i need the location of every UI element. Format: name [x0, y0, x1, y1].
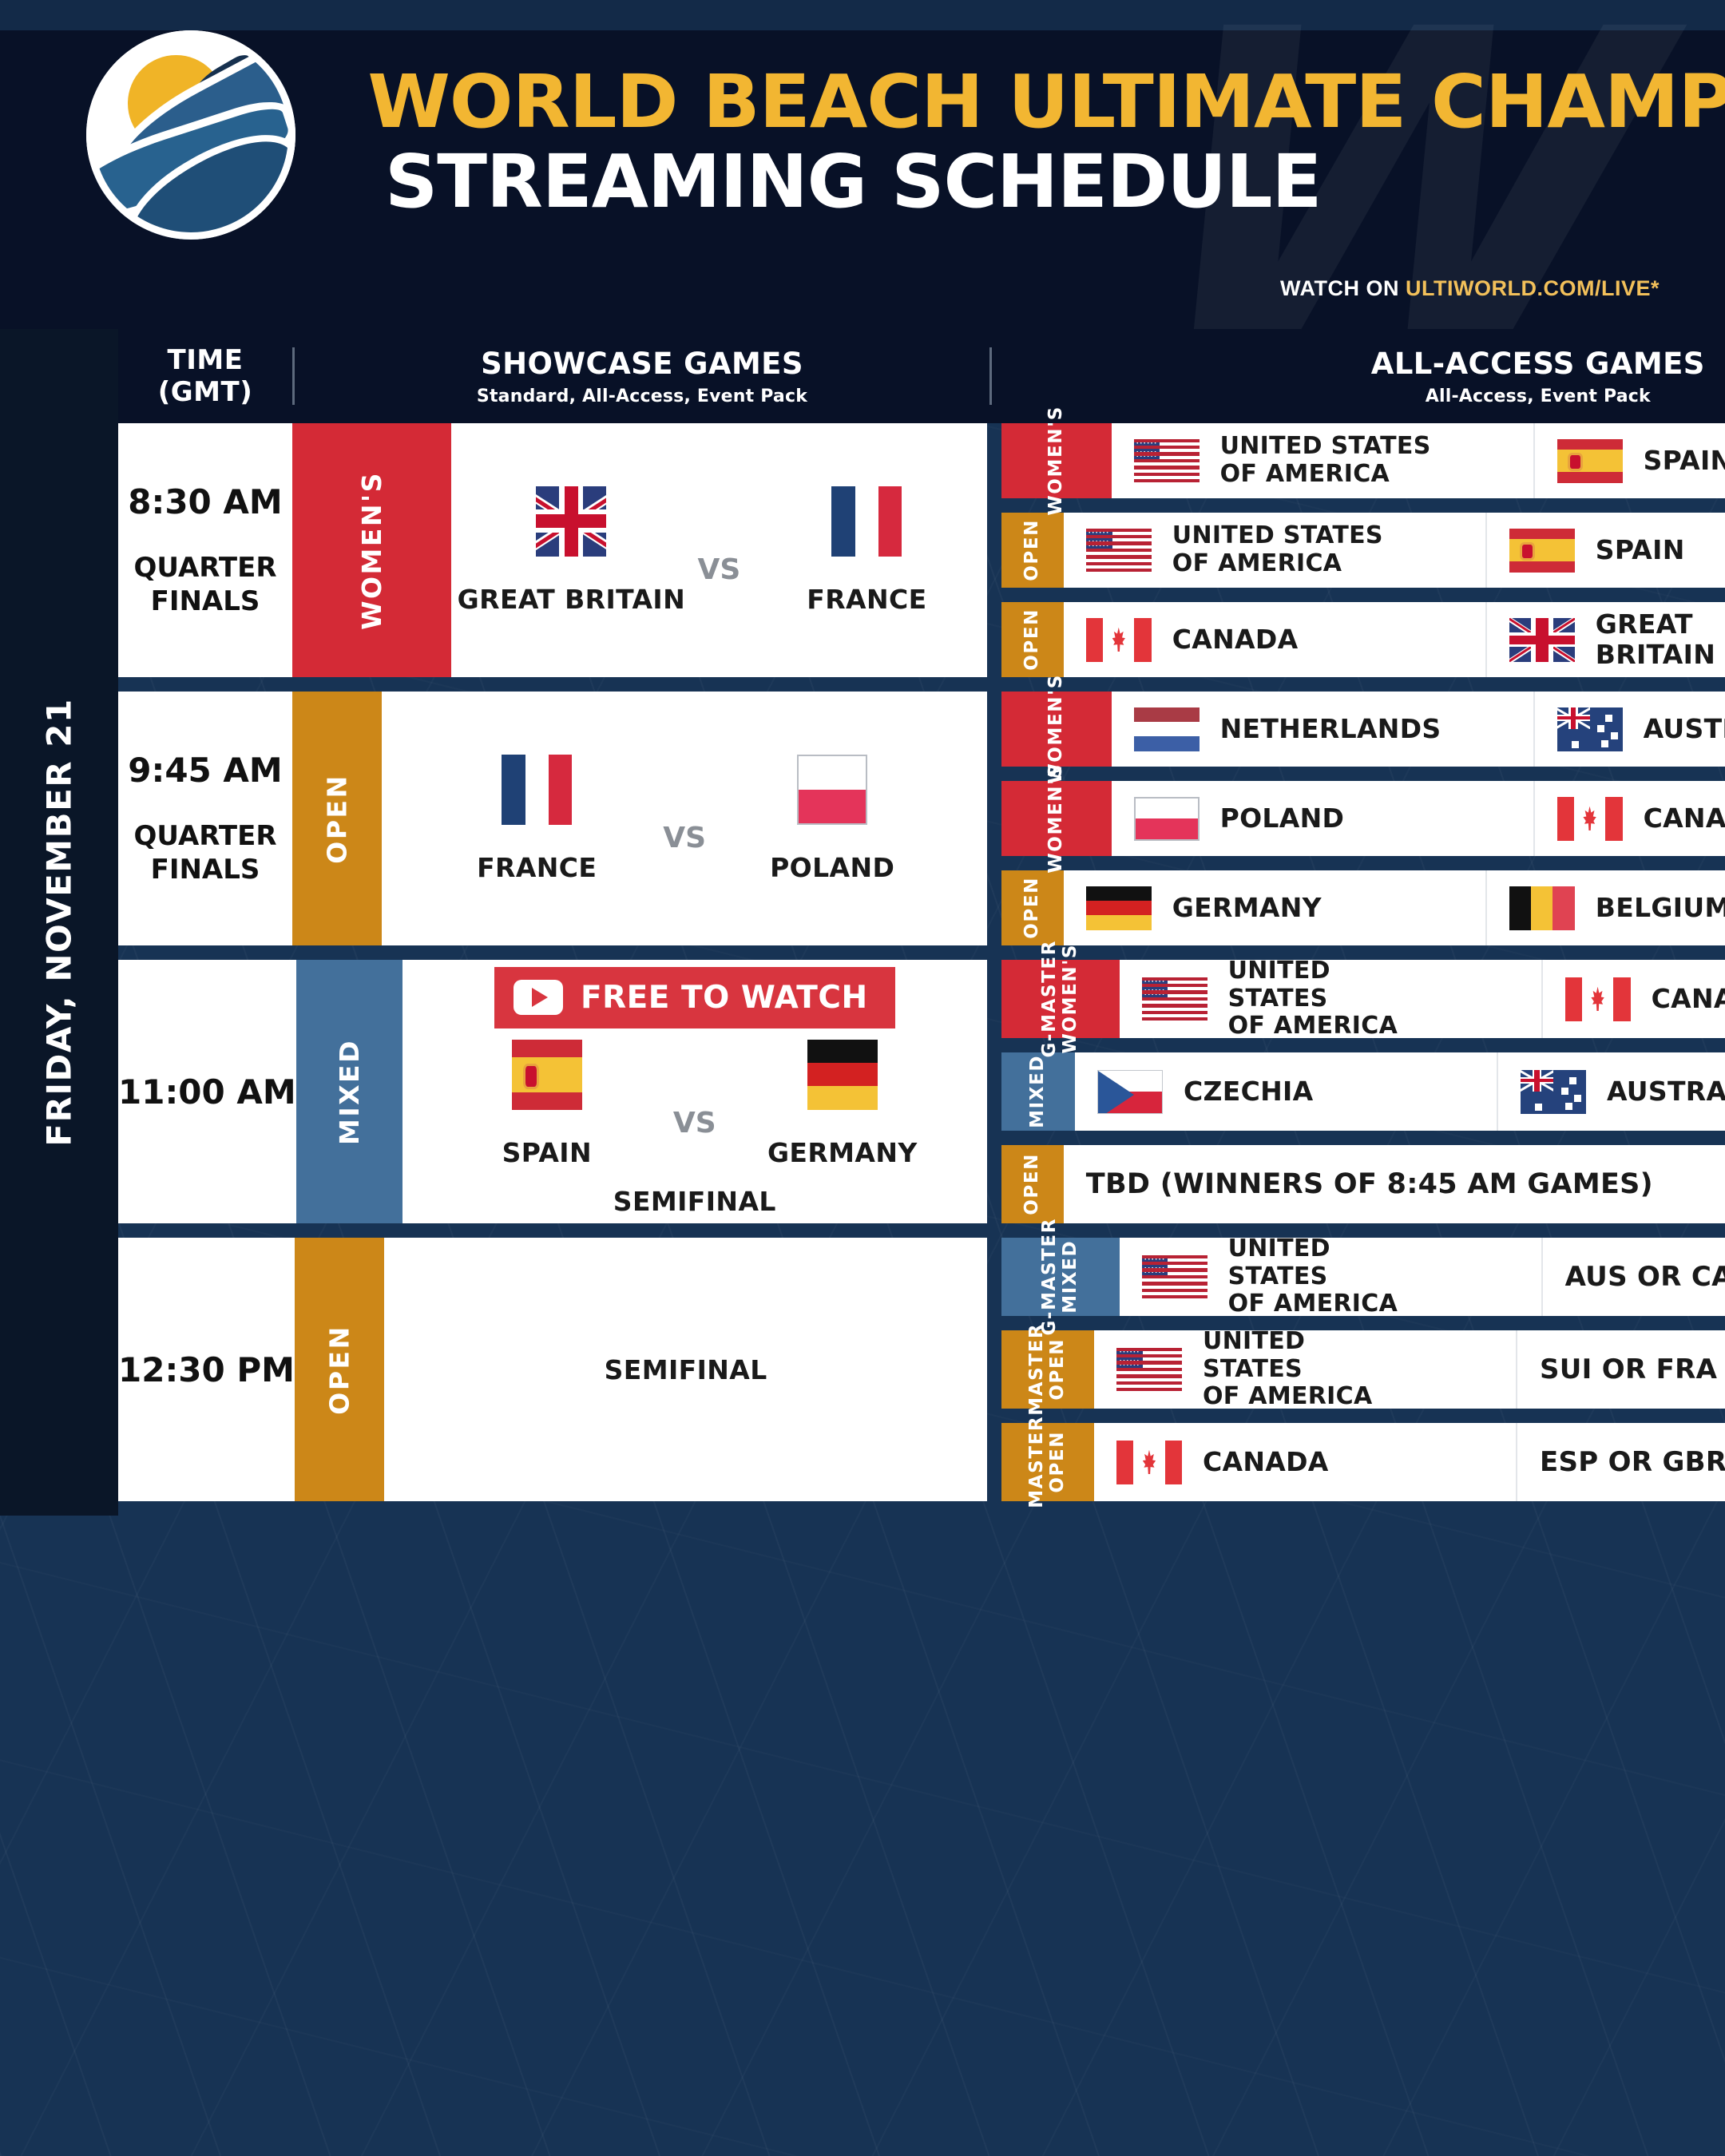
showcase-matchup: FRANCEVSPOLAND — [382, 692, 987, 945]
flag-esp-icon — [512, 1040, 582, 1110]
time-block: 12:30 PMOPENSEMIFINALG-MASTERMIXEDUNITED… — [118, 1238, 1725, 1501]
game-division-label: OPEN — [1022, 1153, 1043, 1215]
game-division-bar: MIXED — [1001, 1052, 1075, 1131]
flag-usa-icon — [1134, 439, 1200, 483]
free-to-watch-label: FREE TO WATCH — [581, 980, 868, 1016]
team-name: ESP OR GBR — [1540, 1446, 1725, 1478]
allaccess-section: G-MASTERWOMEN'SUNITEDSTATESOF AMERICACAN… — [987, 960, 1725, 1223]
team-name: CANADA — [1652, 984, 1725, 1014]
team-name: NETHERLANDS — [1220, 714, 1441, 744]
showcase-note: SEMIFINAL — [605, 1354, 767, 1385]
flag-usa-icon — [1116, 1348, 1182, 1392]
showcase-section: 8:30 AMQUARTERFINALSWOMEN'SGREAT BRITAIN… — [118, 423, 987, 677]
flag-aus-icon — [1557, 707, 1623, 751]
team-home: SPAIN — [427, 1040, 667, 1168]
game-team-a: CANADA — [1064, 602, 1487, 677]
free-to-watch-badge[interactable]: FREE TO WATCH — [494, 967, 895, 1028]
time-block: 9:45 AMQUARTERFINALSOPENFRANCEVSPOLANDWO… — [118, 692, 1725, 945]
game-row[interactable]: OPENUNITED STATESOF AMERICASPAIN — [1001, 513, 1725, 588]
game-row[interactable]: OPENTBD (WINNERS OF 8:45 AM GAMES)SEMIFI… — [1001, 1145, 1725, 1223]
game-division-label: MIXED — [1028, 1055, 1049, 1128]
game-team-a: UNITEDSTATESOF AMERICA — [1120, 1238, 1543, 1316]
round-label: QUARTERFINALS — [133, 820, 276, 886]
team-name: FRANCE — [807, 584, 926, 615]
time-value: 9:45 AM — [128, 751, 282, 790]
team-name: GREAT BRITAIN — [458, 584, 685, 615]
team-name: GERMANY — [1172, 893, 1322, 923]
time-block: 11:00 AMMIXEDFREE TO WATCHSPAINVSGERMANY… — [118, 960, 1725, 1223]
flag-pol-icon — [1134, 797, 1200, 841]
game-row[interactable]: G-MASTERMIXEDUNITEDSTATESOF AMERICAAUS O… — [1001, 1238, 1725, 1316]
team-name: CANADA — [1644, 803, 1725, 834]
game-row[interactable]: MASTEROPENCANADAESP OR GBRSEMIFINAL — [1001, 1423, 1725, 1501]
watch-on-link[interactable]: ULTIWORLD.COM/LIVE* — [1406, 276, 1660, 300]
flag-can-icon — [1557, 797, 1623, 841]
team-name: SPAIN — [502, 1137, 592, 1168]
showcase-matchup: GREAT BRITAINVSFRANCE — [451, 423, 987, 677]
showcase-matchup: FREE TO WATCHSPAINVSGERMANYSEMIFINAL — [402, 960, 987, 1223]
game-division-label: OPEN — [1022, 608, 1043, 671]
game-row[interactable]: WOMEN'SPOLANDCANADA — [1001, 781, 1725, 856]
time-cell: 12:30 PM — [118, 1238, 295, 1501]
showcase-title: SHOWCASE GAMES — [295, 347, 989, 381]
game-team-a: UNITEDSTATESOF AMERICA — [1120, 960, 1543, 1038]
game-team-b: ESP OR GBR — [1517, 1423, 1725, 1501]
game-team-b: BELGIUM — [1487, 870, 1725, 945]
game-row[interactable]: MIXEDCZECHIAAUSTRALIASEMIFINAL — [1001, 1052, 1725, 1131]
showcase-division-label: OPEN — [324, 1325, 355, 1414]
date-column: FRIDAY, NOVEMBER 21 — [0, 329, 118, 1516]
flag-esp-icon — [1557, 439, 1623, 483]
game-division-bar: G-MASTERMIXED — [1001, 1238, 1120, 1316]
flag-usa-icon — [1086, 529, 1152, 573]
team-name: BELGIUM — [1596, 893, 1725, 923]
flag-aus-icon — [1521, 1070, 1586, 1114]
game-division-bar: OPEN — [1001, 870, 1064, 945]
page-subtitle: STREAMING SCHEDULE — [385, 144, 1725, 221]
game-division-label: OPEN — [1022, 519, 1043, 581]
matchup-row: GREAT BRITAINVSFRANCE — [451, 486, 986, 615]
team-name: UNITED STATESOF AMERICA — [1172, 522, 1383, 578]
team-name: SUI OR FRA — [1540, 1353, 1717, 1385]
vs-label: VS — [667, 1107, 723, 1139]
showcase-division-bar: WOMEN'S — [292, 423, 451, 677]
game-row[interactable]: G-MASTERWOMEN'SUNITEDSTATESOF AMERICACAN… — [1001, 960, 1725, 1038]
youtube-play-icon — [514, 980, 563, 1015]
flag-fra-icon — [502, 755, 572, 825]
game-team-b: SUI OR FRA — [1517, 1330, 1725, 1409]
game-row[interactable]: WOMEN'SNETHERLANDSAUSTRALIA — [1001, 692, 1725, 767]
game-team-a: NETHERLANDS — [1112, 692, 1535, 767]
game-division-label: MASTEROPEN — [1027, 1323, 1069, 1416]
game-division-bar: MASTEROPEN — [1001, 1423, 1094, 1501]
game-team-b: GREATBRITAIN — [1487, 602, 1725, 677]
game-team-b: AUS OR CAN — [1543, 1238, 1725, 1316]
flag-deu-icon — [807, 1040, 878, 1110]
showcase-matchup: SEMIFINAL — [384, 1238, 987, 1501]
flag-usa-icon — [1142, 977, 1207, 1021]
game-division-label: WOMEN'S — [1046, 406, 1067, 516]
showcase-division-label: MIXED — [334, 1039, 365, 1145]
time-value: 11:00 AM — [118, 1072, 296, 1112]
showcase-division-bar: OPEN — [295, 1238, 384, 1501]
game-tbd-cell: TBD (WINNERS OF 8:45 AM GAMES) — [1064, 1145, 1725, 1223]
allaccess-section: WOMEN'SUNITED STATESOF AMERICASPAINOPENU… — [987, 423, 1725, 677]
game-team-a: UNITED STATESOF AMERICA — [1112, 423, 1535, 498]
team-name: SPAIN — [1596, 535, 1685, 565]
team-home: FRANCE — [417, 755, 656, 883]
date-label: FRIDAY, NOVEMBER 21 — [40, 698, 79, 1146]
allaccess-section: WOMEN'SNETHERLANDSAUSTRALIAWOMEN'SPOLAND… — [987, 692, 1725, 945]
matchup-row: FRANCEVSPOLAND — [417, 755, 952, 883]
game-team-b: AUSTRALIA — [1535, 692, 1725, 767]
flag-pol-icon — [797, 755, 867, 825]
allaccess-subtitle: All-Access, Event Pack — [992, 386, 1725, 406]
allaccess-title: ALL-ACCESS GAMES — [992, 347, 1725, 381]
flag-esp-icon — [1509, 529, 1575, 573]
game-division-label: OPEN — [1022, 877, 1043, 939]
game-row[interactable]: OPENGERMANYBELGIUM — [1001, 870, 1725, 945]
game-team-a: UNITEDSTATESOF AMERICA — [1094, 1330, 1517, 1409]
time-column-header: TIME (GMT) — [118, 344, 292, 408]
team-away: GERMANY — [723, 1040, 962, 1168]
allaccess-column-header: ALL-ACCESS GAMES All-Access, Event Pack — [992, 347, 1725, 406]
time-cell: 9:45 AMQUARTERFINALS — [118, 692, 292, 945]
game-division-bar: MASTEROPEN — [1001, 1330, 1094, 1409]
game-division-bar: OPEN — [1001, 1145, 1064, 1223]
game-team-a: UNITED STATESOF AMERICA — [1064, 513, 1487, 588]
team-name: AUS OR CAN — [1565, 1261, 1725, 1293]
flag-fra-icon — [831, 486, 902, 557]
game-row[interactable]: MASTEROPENUNITEDSTATESOF AMERICASUI OR F… — [1001, 1330, 1725, 1409]
page-header: W WORLD BEACH ULTIMATE CHAMPIONSHIPS STR… — [0, 0, 1725, 329]
watch-on-prefix: WATCH ON — [1280, 276, 1406, 300]
flag-usa-icon — [1142, 1255, 1207, 1299]
team-name: GERMANY — [767, 1137, 918, 1168]
game-team-a: GERMANY — [1064, 870, 1487, 945]
flag-gbr-icon — [536, 486, 606, 557]
team-name: UNITED STATESOF AMERICA — [1220, 433, 1431, 489]
team-home: GREAT BRITAIN — [451, 486, 691, 615]
time-block: 8:30 AMQUARTERFINALSWOMEN'SGREAT BRITAIN… — [118, 423, 1725, 677]
flag-can-icon — [1565, 977, 1631, 1021]
game-division-bar: WOMEN'S — [1001, 692, 1112, 767]
page-title: WORLD BEACH ULTIMATE CHAMPIONSHIPS — [367, 65, 1725, 139]
game-team-b: AUSTRALIA — [1498, 1052, 1725, 1131]
vs-label: VS — [691, 553, 747, 586]
allaccess-section: G-MASTERMIXEDUNITEDSTATESOF AMERICAAUS O… — [987, 1238, 1725, 1501]
schedule-sheet: FRIDAY, NOVEMBER 21 TIME (GMT) SHOWCASE … — [0, 329, 1725, 1516]
game-team-a: POLAND — [1112, 781, 1535, 856]
team-away: FRANCE — [747, 486, 986, 615]
team-name: AUSTRALIA — [1607, 1076, 1725, 1107]
game-division-label: G-MASTERMIXED — [1040, 1218, 1081, 1336]
game-division-bar: OPEN — [1001, 602, 1064, 677]
game-division-bar: WOMEN'S — [1001, 781, 1112, 856]
game-row[interactable]: OPENCANADAGREATBRITAIN — [1001, 602, 1725, 677]
team-name: CANADA — [1172, 624, 1299, 655]
schedule-body: TIME (GMT) SHOWCASE GAMES Standard, All-… — [118, 329, 1725, 1516]
team-name: UNITEDSTATESOF AMERICA — [1203, 1328, 1373, 1411]
game-team-b: SPAIN — [1535, 423, 1725, 498]
showcase-division-label: WOMEN'S — [356, 471, 387, 630]
game-division-label: WOMEN'S — [1046, 763, 1067, 874]
team-name: SPAIN — [1644, 446, 1725, 476]
game-team-a: CANADA — [1094, 1423, 1517, 1501]
showcase-division-bar: OPEN — [292, 692, 382, 945]
game-tbd-text: TBD (WINNERS OF 8:45 AM GAMES) — [1086, 1168, 1653, 1200]
time-blocks: 8:30 AMQUARTERFINALSWOMEN'SGREAT BRITAIN… — [118, 423, 1725, 1501]
game-team-b: CANADA — [1543, 960, 1725, 1038]
game-team-b: SPAIN — [1487, 513, 1725, 588]
flag-ned-icon — [1134, 707, 1200, 751]
flag-bel-icon — [1509, 886, 1575, 930]
team-name: UNITEDSTATESOF AMERICA — [1228, 1235, 1398, 1318]
team-name: GREATBRITAIN — [1596, 609, 1715, 671]
team-name: CANADA — [1203, 1447, 1329, 1477]
flag-can-icon — [1116, 1441, 1182, 1484]
vs-label: VS — [656, 822, 712, 854]
showcase-division-bar: MIXED — [296, 960, 402, 1223]
game-division-bar: G-MASTERWOMEN'S — [1001, 960, 1120, 1038]
time-value: 8:30 AM — [128, 482, 282, 521]
showcase-division-label: OPEN — [322, 774, 353, 863]
game-division-label: MASTEROPEN — [1027, 1416, 1069, 1508]
team-name: FRANCE — [477, 852, 597, 883]
team-name: POLAND — [1220, 803, 1345, 834]
game-team-a: CZECHIA — [1075, 1052, 1498, 1131]
game-division-bar: WOMEN'S — [1001, 423, 1112, 498]
game-row[interactable]: WOMEN'SUNITED STATESOF AMERICASPAIN — [1001, 423, 1725, 498]
team-away: POLAND — [712, 755, 952, 883]
showcase-subtitle: Standard, All-Access, Event Pack — [295, 386, 989, 406]
matchup-row: SPAINVSGERMANY — [427, 1040, 962, 1168]
flag-cze-icon — [1097, 1070, 1163, 1114]
team-name: AUSTRALIA — [1644, 714, 1725, 744]
showcase-section: 12:30 PMOPENSEMIFINAL — [118, 1238, 987, 1501]
game-division-bar: OPEN — [1001, 513, 1064, 588]
showcase-column-header: SHOWCASE GAMES Standard, All-Access, Eve… — [295, 347, 989, 406]
world-beach-ultimate-logo — [86, 30, 295, 240]
watch-on-line: WATCH ON ULTIWORLD.COM/LIVE* — [1280, 276, 1660, 301]
team-name: CZECHIA — [1184, 1076, 1313, 1107]
team-name: POLAND — [770, 852, 894, 883]
time-cell: 11:00 AM — [118, 960, 296, 1223]
showcase-section: 11:00 AMMIXEDFREE TO WATCHSPAINVSGERMANY… — [118, 960, 987, 1223]
showcase-note: SEMIFINAL — [613, 1186, 776, 1217]
round-label: QUARTERFINALS — [133, 552, 276, 618]
time-cell: 8:30 AMQUARTERFINALS — [118, 423, 292, 677]
time-value: 12:30 PM — [118, 1350, 295, 1389]
flag-gbr-icon — [1509, 618, 1575, 662]
showcase-section: 9:45 AMQUARTERFINALSOPENFRANCEVSPOLAND — [118, 692, 987, 945]
table-header-row: TIME (GMT) SHOWCASE GAMES Standard, All-… — [118, 329, 1725, 423]
team-name: UNITEDSTATESOF AMERICA — [1228, 957, 1398, 1040]
flag-can-icon — [1086, 618, 1152, 662]
game-division-label: G-MASTERWOMEN'S — [1040, 940, 1081, 1058]
game-team-b: CANADA — [1535, 781, 1725, 856]
flag-deu-icon — [1086, 886, 1152, 930]
